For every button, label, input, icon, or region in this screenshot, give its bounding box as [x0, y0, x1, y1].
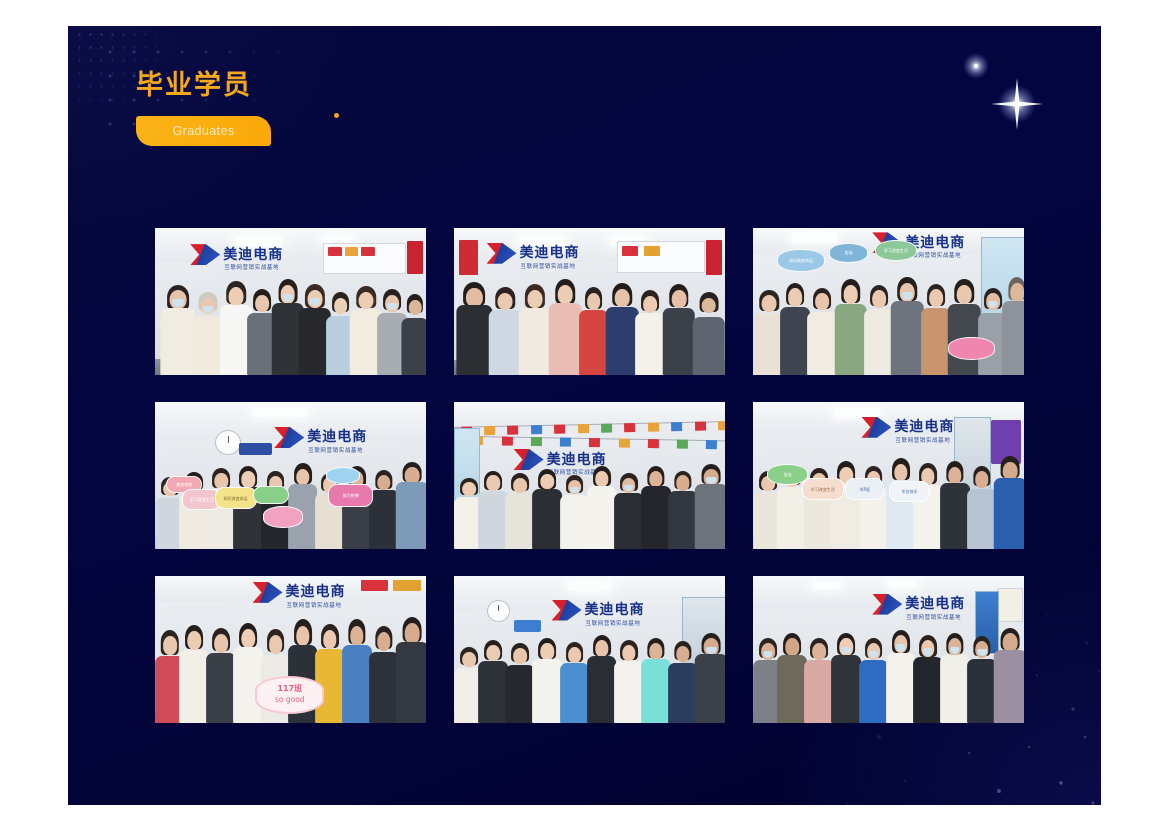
four-point-star-icon: [991, 78, 1043, 130]
graduate-photo-9[interactable]: 美迪电商 互联网营销实战基地: [753, 576, 1024, 723]
photo-sign: VIP班: [845, 478, 884, 500]
sparkle-layer: [921, 26, 1101, 196]
photo-sign: 努力拼搏: [328, 484, 373, 507]
graduates-badge[interactable]: Graduates: [136, 116, 271, 146]
graduates-badge-label: Graduates: [173, 124, 235, 138]
graduate-photo-3[interactable]: 美迪电商 互联网营销实战基地 知识改变命运 加油 学习改变生活: [753, 228, 1024, 375]
graduate-photo-4[interactable]: 美迪电商 互联网营销实战基地: [155, 402, 426, 549]
photo-sign: 学习改变生活: [875, 240, 917, 262]
photo-sign: [263, 506, 302, 528]
brand-name-cn: 美迪电商: [585, 603, 645, 617]
accent-dot-icon: [334, 113, 339, 118]
class-117-label: 117班: [277, 684, 302, 695]
slide-canvas: 毕业学员 Graduates 美迪电商 互联网营销实战基地: [68, 26, 1101, 805]
photo-sign: [948, 337, 995, 360]
graduate-photo-6[interactable]: 美迪电商 互联网营销实战基地: [753, 402, 1024, 549]
page-title: 毕业学员: [136, 72, 271, 99]
glow-dot-icon: [963, 53, 989, 79]
brand-name-cn: 美迪电商: [307, 430, 367, 444]
brand-tagline: 互联网营销实战基地: [895, 436, 950, 444]
brand-name-cn: 美迪电商: [286, 585, 346, 599]
graduate-photo-8[interactable]: 美迪电商 互联网营销实战基地: [454, 576, 725, 723]
class-117-caption: so good: [275, 695, 305, 705]
photo-sign: 毕业快乐: [889, 481, 931, 501]
photo-sign: 学习改变生活: [802, 478, 844, 500]
photo-sign: [326, 467, 360, 484]
graduate-photo-1[interactable]: 美迪电商 互联网营销实战基地: [155, 228, 426, 375]
brand-name-cn: 美迪电商: [905, 597, 965, 611]
brand-name-cn: 美迪电商: [894, 420, 954, 434]
graduate-photo-7[interactable]: 美迪电商 互联网营销实战基地: [155, 576, 426, 723]
graduate-photo-2[interactable]: 美迪电商 互联网营销实战基地: [454, 228, 725, 375]
brand-name-cn: 美迪电商: [223, 248, 283, 262]
class-117-sign: 117班 so good: [255, 676, 324, 714]
brand-name-cn: 美迪电商: [520, 246, 580, 260]
graduate-photo-grid: 美迪电商 互联网营销实战基地: [155, 228, 1024, 723]
graduate-photo-5[interactable]: 美迪电商 互联网营销实战基地: [454, 402, 725, 549]
photo-sign: 知识改变命运: [215, 487, 257, 509]
photo-sign: [253, 486, 290, 505]
slide-header: 毕业学员 Graduates: [136, 72, 271, 146]
